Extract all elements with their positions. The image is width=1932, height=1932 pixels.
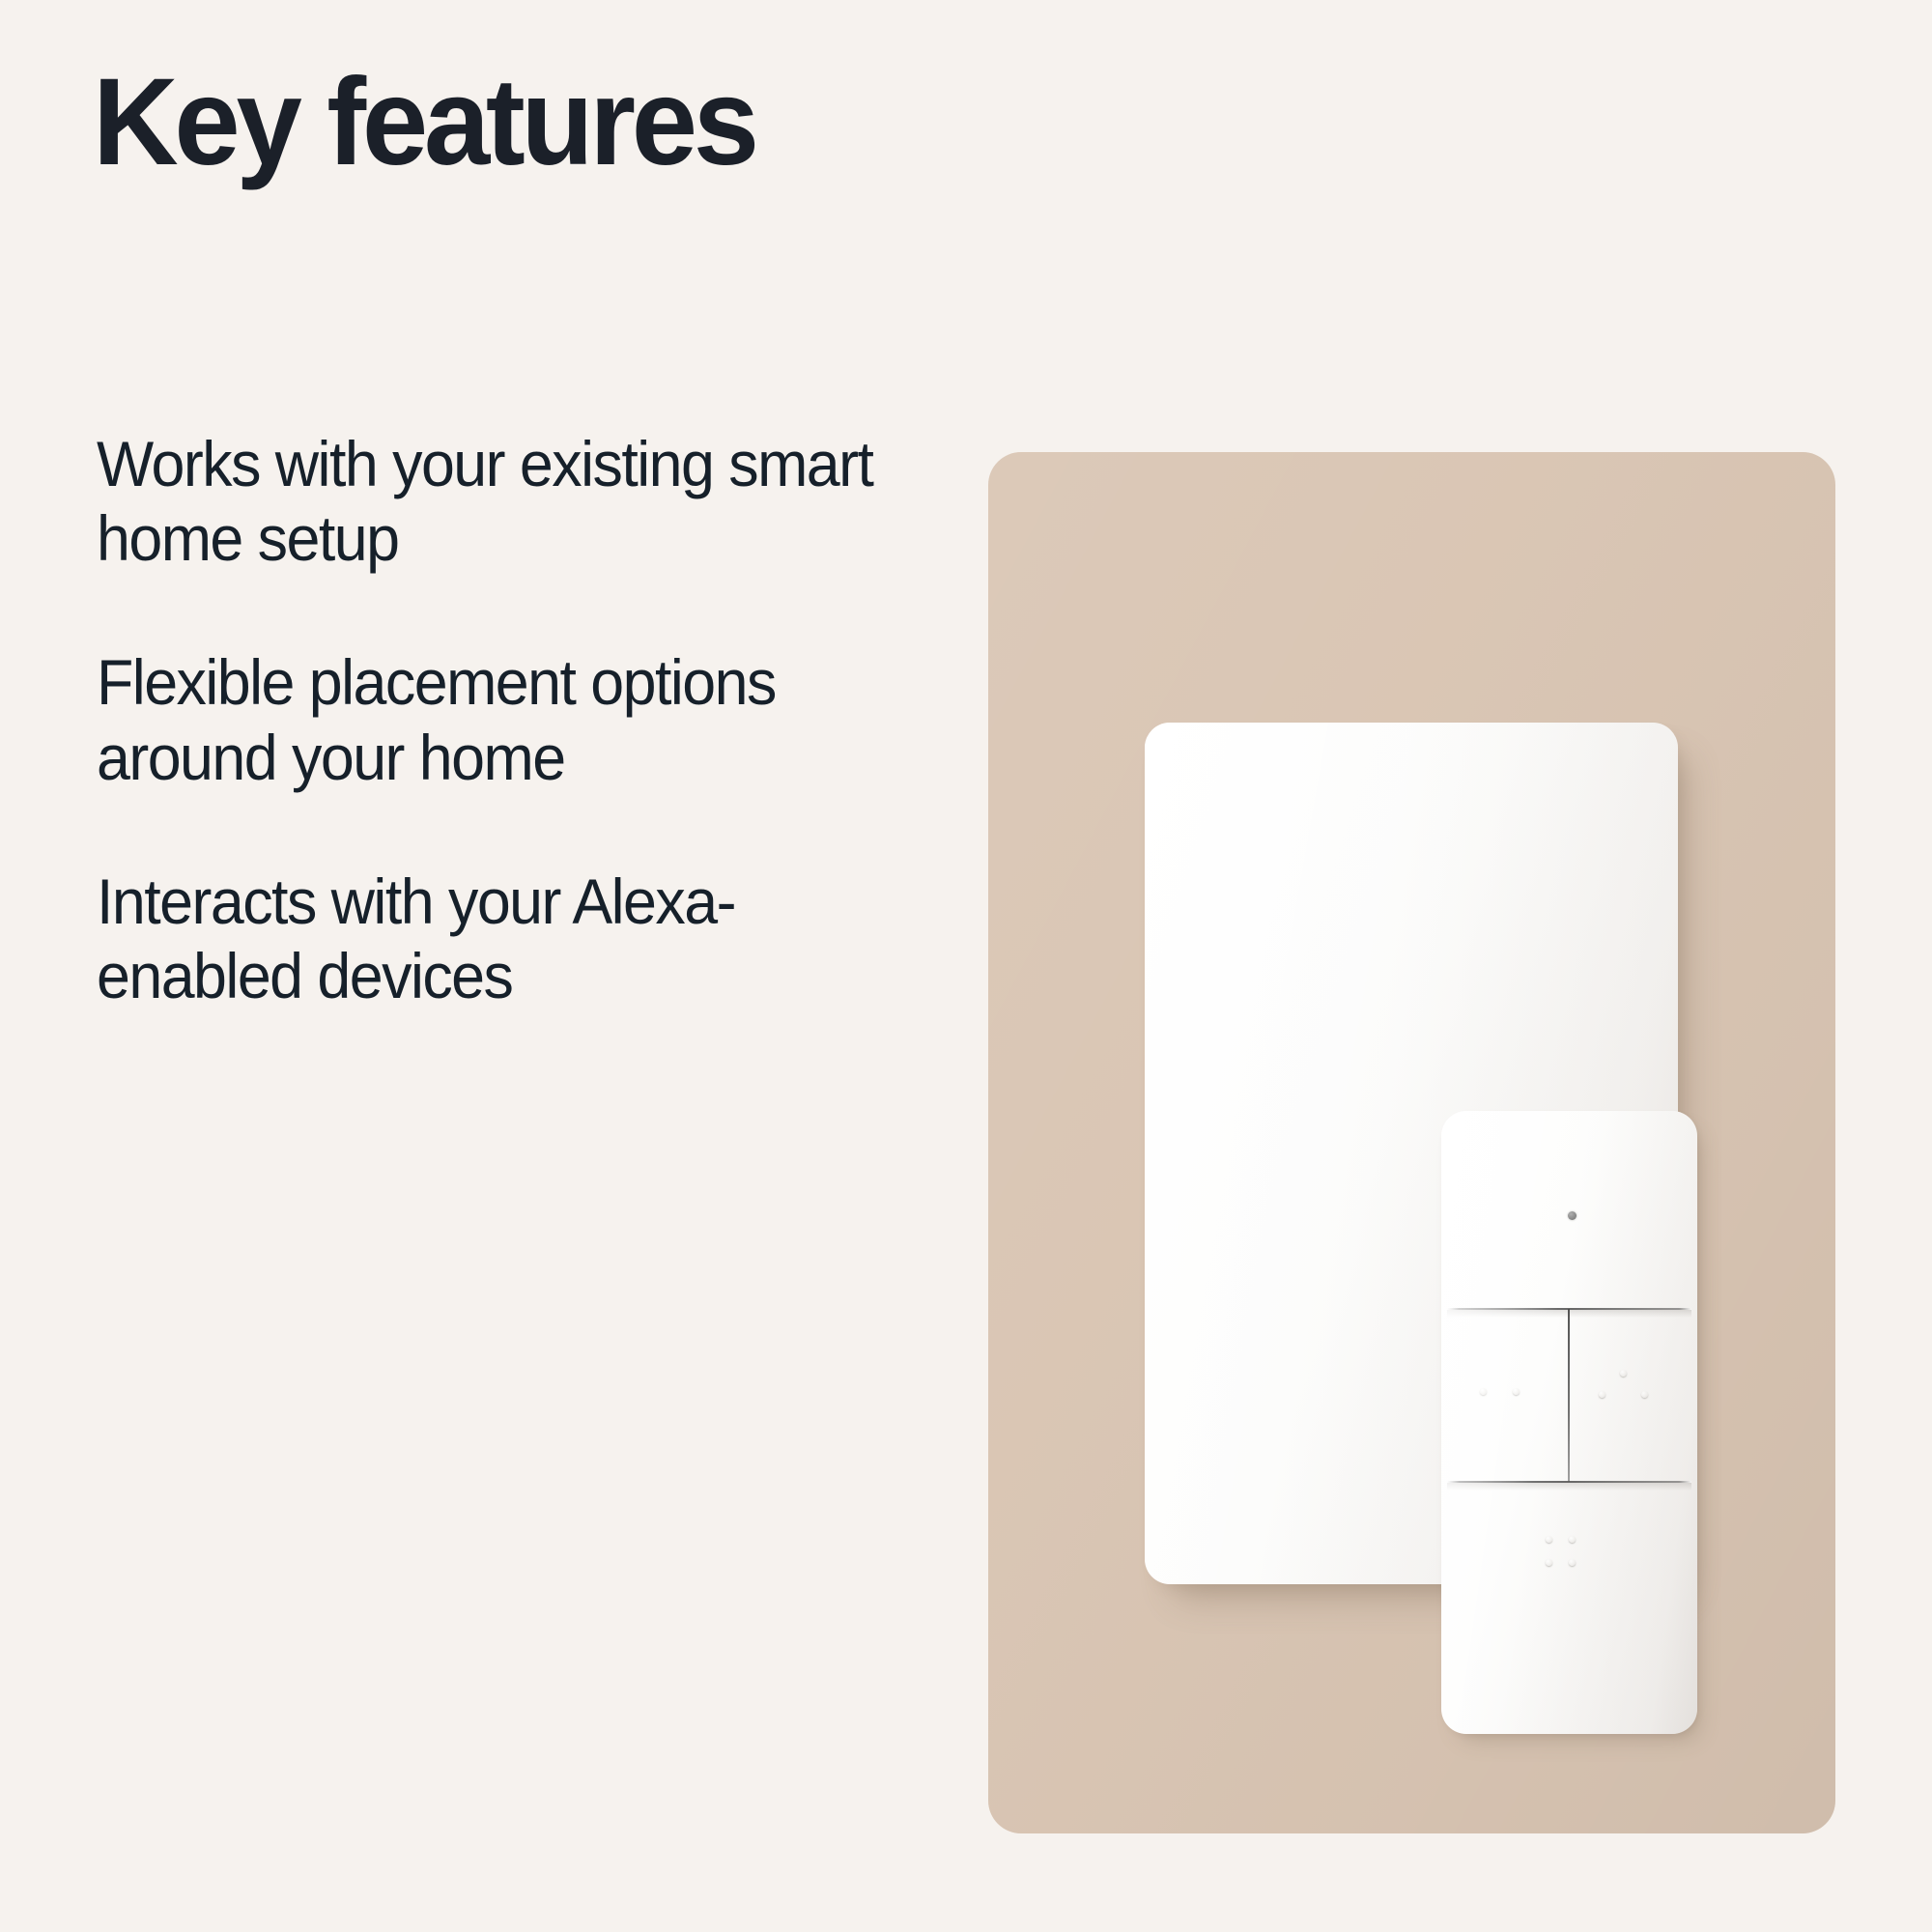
bottom-paddle-dots[interactable]	[1546, 1536, 1592, 1582]
dot-icon	[1480, 1388, 1487, 1395]
middle-left-paddle-dots[interactable]	[1480, 1379, 1538, 1405]
feature-item-works-with-smart-home: Works with your existing smart home setu…	[97, 427, 904, 576]
feature-list: Works with your existing smart home setu…	[97, 427, 947, 1013]
dot-icon	[1546, 1536, 1552, 1543]
smart-switch-module[interactable]	[1441, 1111, 1697, 1734]
dot-icon	[1513, 1388, 1520, 1395]
dot-icon	[1569, 1536, 1576, 1543]
wall-plate	[1145, 723, 1678, 1584]
text-column: Key features Works with your existing sm…	[93, 60, 923, 186]
status-led-icon	[1568, 1211, 1577, 1220]
paddle-divider-vertical	[1568, 1309, 1570, 1482]
middle-right-paddle-dots[interactable]	[1599, 1370, 1657, 1414]
dot-icon	[1599, 1391, 1605, 1398]
seam-shadow-bottom	[1447, 1483, 1691, 1491]
paddle-seam-bottom	[1447, 1481, 1691, 1483]
dot-icon	[1641, 1391, 1648, 1398]
product-image	[988, 452, 1835, 1833]
page-root: Key features Works with your existing sm…	[0, 0, 1932, 1932]
feature-item-alexa-devices: Interacts with your Alexa-enabled device…	[97, 865, 904, 1013]
dot-icon	[1569, 1559, 1576, 1566]
dot-icon	[1620, 1370, 1627, 1377]
page-title: Key features	[93, 60, 891, 186]
feature-item-flexible-placement: Flexible placement options around your h…	[97, 645, 904, 794]
dot-icon	[1546, 1559, 1552, 1566]
